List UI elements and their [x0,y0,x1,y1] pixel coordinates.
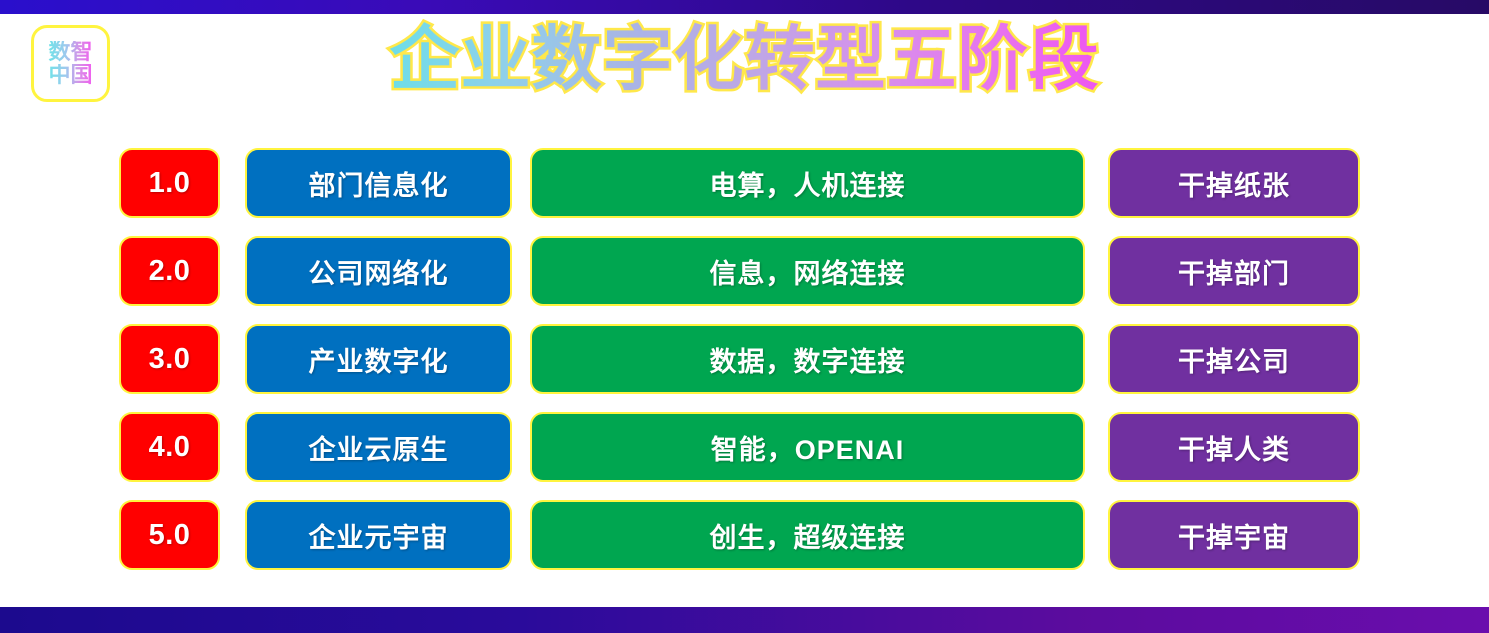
stage-badge: 2.0 [119,236,220,306]
stage-name: 产业数字化 [245,324,512,394]
stage-goal: 干掉公司 [1108,324,1360,394]
stage-description: 数据，数字连接 [530,324,1085,394]
stage-badge: 3.0 [119,324,220,394]
table-row: 1.0 部门信息化 电算，人机连接 干掉纸张 [0,148,1489,218]
stage-name: 部门信息化 [245,148,512,218]
top-accent-bar [0,0,1489,14]
stage-table: 1.0 部门信息化 电算，人机连接 干掉纸张 2.0 公司网络化 信息，网络连接… [0,148,1489,570]
table-row: 5.0 企业元宇宙 创生，超级连接 干掉宇宙 [0,500,1489,570]
stage-goal: 干掉纸张 [1108,148,1360,218]
page-title-text: 企业数字化转型五阶段 [390,20,1100,98]
stage-goal: 干掉部门 [1108,236,1360,306]
stage-badge: 1.0 [119,148,220,218]
table-row: 3.0 产业数字化 数据，数字连接 干掉公司 [0,324,1489,394]
table-row: 2.0 公司网络化 信息，网络连接 干掉部门 [0,236,1489,306]
stage-description: 信息，网络连接 [530,236,1085,306]
stage-badge: 5.0 [119,500,220,570]
stage-description: 电算，人机连接 [530,148,1085,218]
stage-description: 创生，超级连接 [530,500,1085,570]
stage-name: 企业元宇宙 [245,500,512,570]
bottom-accent-bar [0,607,1489,633]
table-row: 4.0 企业云原生 智能，OPENAI 干掉人类 [0,412,1489,482]
stage-goal: 干掉人类 [1108,412,1360,482]
stage-name: 公司网络化 [245,236,512,306]
stage-name: 企业云原生 [245,412,512,482]
stage-badge: 4.0 [119,412,220,482]
stage-goal: 干掉宇宙 [1108,500,1360,570]
stage-description: 智能，OPENAI [530,412,1085,482]
page-title: 企业数字化转型五阶段 企业数字化转型五阶段 [0,22,1489,98]
